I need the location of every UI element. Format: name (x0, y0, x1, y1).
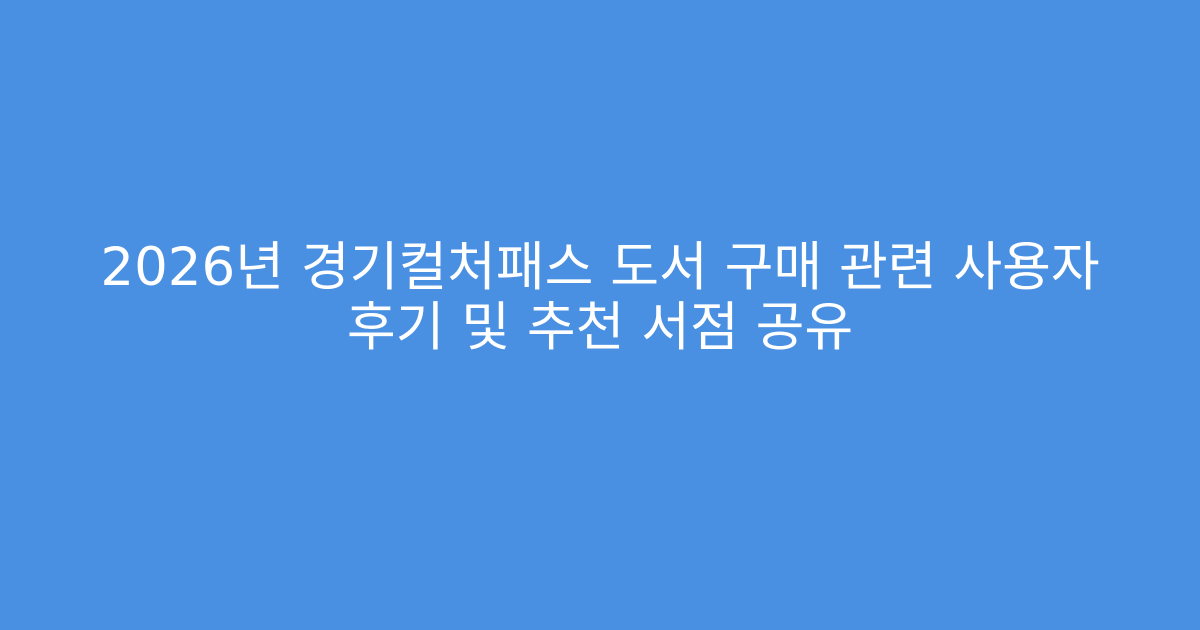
page-title: 2026년 경기컬처패스 도서 구매 관련 사용자 후기 및 추천 서점 공유 (0, 238, 1200, 358)
social-share-card: 2026년 경기컬처패스 도서 구매 관련 사용자 후기 및 추천 서점 공유 (0, 0, 1200, 630)
card-content: 2026년 경기컬처패스 도서 구매 관련 사용자 후기 및 추천 서점 공유 (0, 238, 1200, 358)
